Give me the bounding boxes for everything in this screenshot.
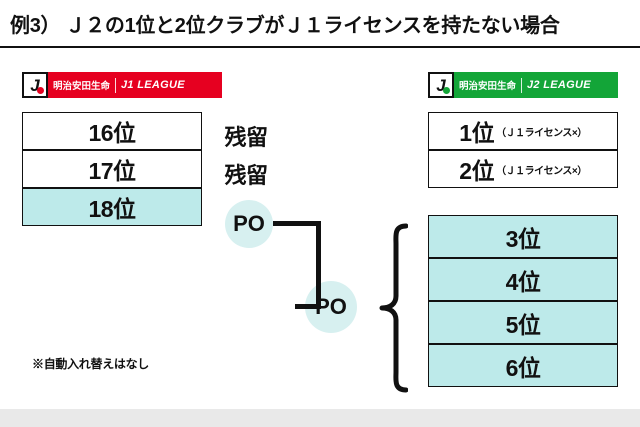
j1-rank-row: 18位 [22,188,202,226]
j2-league-label: J2 LEAGUE [527,79,591,91]
j2-league-banner: J 明治安田生命 J2 LEAGUE [428,72,618,98]
j1-status-17: 残留 [208,158,284,190]
j1-sponsor-label: 明治安田生命 [53,78,110,92]
connector-horizontal-bottom [295,304,321,309]
diagram-page: 例3） Ｊ２の1位と2位クラブがＪ１ライセンスを持たない場合 J 明治安田生命 … [0,0,640,427]
j2-rank-row: 3位 [428,215,618,258]
footnote-text: ※自動入れ替えはなし [32,355,149,372]
connector-vertical [316,221,321,307]
page-title: 例3） Ｊ２の1位と2位クラブがＪ１ライセンスを持たない場合 [0,9,560,38]
j1-banner-separator [115,78,116,93]
brace-icon [376,222,408,394]
j1-rank-row: 16位 [22,112,202,150]
j2-rank-row: 2位 （Ｊ１ライセンス×） [428,150,618,188]
rank-label: 16位 [88,114,135,148]
rank-note: （Ｊ１ライセンス×） [496,162,587,177]
rank-note: （Ｊ１ライセンス×） [496,124,587,139]
j2-sponsor-label: 明治安田生命 [459,78,516,92]
connector-horizontal-top [273,221,321,226]
j2-rank-row: 6位 [428,344,618,387]
j-league-mark-icon: J [428,72,454,98]
rank-label: 2位 [459,152,494,186]
j-mark-dot-icon [443,87,450,94]
j2-banner-separator [521,78,522,93]
rank-label: 1位 [459,114,494,148]
j2-rank-row: 4位 [428,258,618,301]
j-mark-dot-icon [37,87,44,94]
title-bar: 例3） Ｊ２の1位と2位クラブがＪ１ライセンスを持たない場合 [0,0,640,46]
rank-label: 4位 [506,263,541,297]
j1-rank-row: 17位 [22,150,202,188]
j-league-mark-icon: J [22,72,48,98]
j1-status-16: 残留 [208,120,284,152]
rank-label: 5位 [506,306,541,340]
bottom-band [0,409,640,427]
j2-rank-row: 1位 （Ｊ１ライセンス×） [428,112,618,150]
j1-league-banner: J 明治安田生命 J1 LEAGUE [22,72,222,98]
rank-label: 6位 [506,349,541,383]
j2-banner-body: 明治安田生命 J2 LEAGUE [454,72,618,98]
title-divider [0,46,640,48]
rank-label: 18位 [88,190,135,224]
rank-label: 17位 [88,152,135,186]
j1-banner-body: 明治安田生命 J1 LEAGUE [48,72,222,98]
j1-po-bubble: PO [225,200,273,248]
rank-label: 3位 [506,220,541,254]
j2-rank-row: 5位 [428,301,618,344]
j2-group-brace [376,222,408,394]
j1-league-label: J1 LEAGUE [121,79,185,91]
